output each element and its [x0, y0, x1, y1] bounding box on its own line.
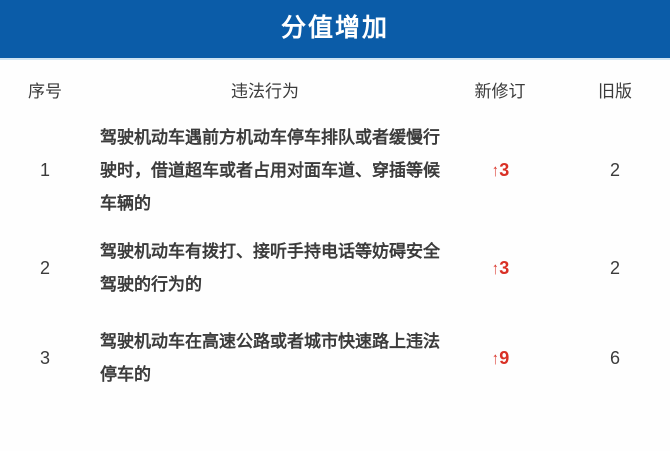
- row-new-score: ↑3: [440, 258, 560, 279]
- increase-arrow-icon: ↑: [492, 349, 499, 369]
- row-description: 驾驶机动车遇前方机动车停车排队或者缓慢行驶时，借道超车或者占用对面车道、穿插等候…: [90, 121, 440, 220]
- new-score-value: 9: [499, 348, 509, 368]
- row-old-score: 2: [560, 258, 670, 279]
- increase-arrow-icon: ↑: [492, 259, 499, 279]
- row-description: 驾驶机动车在高速公路或者城市快速路上违法停车的: [90, 325, 440, 391]
- row-new-score: ↑3: [440, 160, 560, 181]
- row-index: 2: [0, 258, 90, 279]
- column-header-new-score: 新修订: [440, 77, 560, 102]
- row-old-score: 2: [560, 160, 670, 181]
- column-header-old-score: 旧版: [560, 77, 670, 102]
- row-index: 3: [0, 348, 90, 369]
- table-header-row: 序号 违法行为 新修订 旧版: [0, 60, 670, 118]
- column-header-description: 违法行为: [90, 77, 440, 102]
- row-old-score: 6: [560, 348, 670, 369]
- page-title-banner: 分值增加: [0, 0, 670, 58]
- table-row: 3 驾驶机动车在高速公路或者城市快速路上违法停车的 ↑9 6: [0, 313, 670, 403]
- new-score-value: 3: [499, 258, 509, 278]
- row-index: 1: [0, 160, 90, 181]
- score-increase-table-page: 分值增加 序号 违法行为 新修订 旧版 1 驾驶机动车遇前方机动车停车排队或者缓…: [0, 0, 670, 451]
- row-description: 驾驶机动车有拨打、接听手持电话等妨碍安全驾驶的行为的: [90, 235, 440, 301]
- violations-table: 序号 违法行为 新修订 旧版 1 驾驶机动车遇前方机动车停车排队或者缓慢行驶时，…: [0, 60, 670, 403]
- increase-arrow-icon: ↑: [492, 161, 499, 181]
- table-row: 1 驾驶机动车遇前方机动车停车排队或者缓慢行驶时，借道超车或者占用对面车道、穿插…: [0, 118, 670, 223]
- column-header-index: 序号: [0, 77, 90, 102]
- row-new-score: ↑9: [440, 348, 560, 369]
- table-row: 2 驾驶机动车有拨打、接听手持电话等妨碍安全驾驶的行为的 ↑3 2: [0, 223, 670, 313]
- new-score-value: 3: [499, 160, 509, 180]
- page-title: 分值增加: [281, 16, 389, 41]
